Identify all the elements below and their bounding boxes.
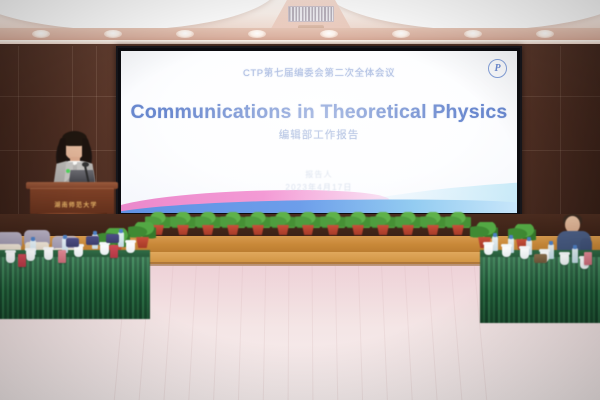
potted-plant (370, 212, 396, 238)
plant-pot (377, 225, 389, 235)
cup-lid (501, 244, 512, 247)
potted-plant (345, 212, 371, 238)
cup-lid (539, 249, 550, 252)
presentation-slide: P CTP第七届编委会第二次全体会议 Communications in The… (121, 51, 517, 213)
bottle-cap (493, 233, 497, 237)
downlight-icon (464, 30, 482, 38)
potted-plant (245, 212, 271, 238)
plant-pot (177, 225, 189, 235)
cup-lid (559, 252, 570, 255)
cup-lid (25, 248, 36, 251)
plant-pot (202, 225, 214, 235)
bottle-cap (527, 237, 531, 241)
bottle-cap (509, 235, 513, 239)
tea-cup (26, 250, 35, 261)
tea-cup (74, 246, 83, 257)
bottle-cap (119, 229, 123, 233)
potted-plant (220, 212, 246, 238)
ceiling-curve-right (320, 0, 600, 30)
potted-plant (395, 212, 421, 238)
bottle-cap (93, 231, 97, 235)
laptop-led-icon (66, 169, 70, 173)
plant-pot (302, 225, 314, 235)
potted-plant (170, 212, 196, 238)
plant-pot (402, 225, 414, 235)
document-box (86, 236, 99, 245)
podium-front-panel: 湖南师范大学 (30, 188, 114, 214)
water-bottle (572, 248, 578, 263)
microphone-icon (82, 162, 89, 167)
laptop-icon (69, 170, 95, 182)
name-card (18, 254, 26, 267)
slide-presenter: 报告人 (121, 169, 517, 180)
tea-cup (100, 244, 109, 255)
cup-lid (519, 246, 530, 249)
tea-cup (560, 254, 569, 265)
document-box (66, 238, 79, 247)
tea-cup (126, 242, 135, 253)
potted-plant (270, 212, 296, 238)
tea-cup (502, 246, 511, 257)
plant-pot (452, 225, 464, 235)
slide-title: Communications in Theoretical Physics (121, 101, 517, 124)
cup-lid (125, 240, 136, 243)
downlight-icon (320, 30, 338, 38)
cup-lid (43, 247, 54, 250)
tea-cup (520, 248, 529, 259)
potted-plant (445, 212, 471, 238)
downlight-icon (32, 30, 50, 38)
tea-cup (44, 249, 53, 260)
slide-subtitle: 编辑部工作报告 (121, 127, 517, 142)
side-plant-pot (136, 237, 149, 248)
led-screen-surface: P CTP第七届编委会第二次全体会议 Communications in The… (121, 51, 517, 213)
downlight-icon (248, 30, 266, 38)
potted-plant (320, 212, 346, 238)
potted-plant (295, 212, 321, 238)
name-card (110, 245, 118, 258)
plant-pot (252, 225, 264, 235)
led-screen[interactable]: P CTP第七届编委会第二次全体会议 Communications in The… (116, 46, 522, 218)
potted-plant (195, 212, 221, 238)
bottle-cap (31, 237, 35, 241)
plant-pot (327, 225, 339, 235)
plant-pot (352, 225, 364, 235)
potted-plant (420, 212, 446, 238)
document-box (534, 254, 547, 263)
document-box (106, 234, 119, 243)
tea-cup (484, 244, 493, 255)
bottle-cap (549, 241, 553, 245)
bottle-cap (573, 245, 577, 249)
name-card (584, 252, 592, 265)
conference-hall-scene: P CTP第七届编委会第二次全体会议 Communications in The… (0, 0, 600, 400)
podium-venue-label: 湖南师范大学 (34, 200, 118, 209)
downlight-icon (392, 30, 410, 38)
name-card (58, 250, 66, 263)
air-vent-icon (288, 6, 334, 22)
ceiling-curve-left (0, 0, 280, 30)
cup-lid (5, 250, 16, 253)
plant-pot (277, 225, 289, 235)
slide-date: 2023年4月17日 (121, 182, 517, 193)
plant-pot (427, 225, 439, 235)
cup-lid (483, 242, 494, 245)
downlight-icon (104, 30, 122, 38)
downlight-icon (176, 30, 194, 38)
plant-pot (227, 225, 239, 235)
slide-header-text: CTP第七届编委会第二次全体会议 (121, 65, 517, 79)
tea-cup (6, 252, 15, 263)
downlight-icon (536, 30, 554, 38)
